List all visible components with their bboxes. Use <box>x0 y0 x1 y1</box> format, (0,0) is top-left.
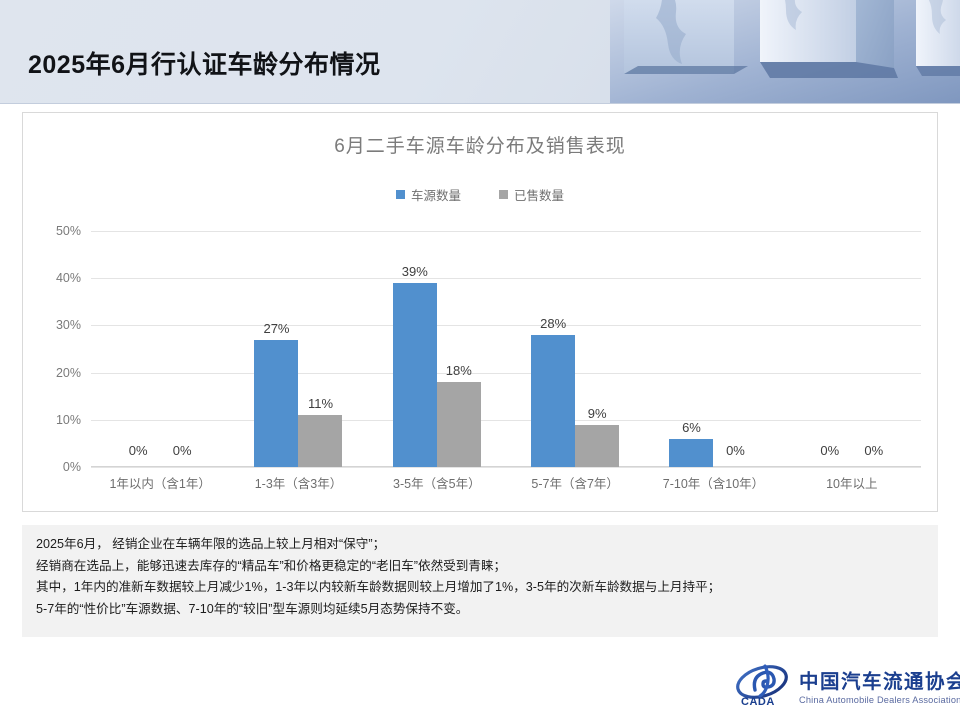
bar-value-label-1-1: 0% <box>129 443 148 458</box>
bar-value-label-4-2: 9% <box>588 406 607 421</box>
ytick-label-50: 50% <box>56 224 81 238</box>
xlabel-cat-5: 7-10年（含10年） <box>644 473 782 492</box>
chart-legend: 车源数量 已售数量 <box>23 185 937 204</box>
ytick-label-30: 30% <box>56 318 81 332</box>
logo-name-cn: 中国汽车流通协会 <box>799 665 960 694</box>
bar-series-2-cat-2[interactable]: 11% <box>298 415 342 467</box>
chart-title: 6月二手车源车龄分布及销售表现 <box>23 131 937 158</box>
note-line-3: 其中，1年内的准新车数据较上月减少1%，1-3年以内较新车龄数据则较上月增加了1… <box>36 577 924 599</box>
cada-logo: CADA 中国汽车流通协会 China Automobile Dealers A… <box>735 658 945 712</box>
xlabel-cat-2: 1-3年（含3年） <box>229 473 367 492</box>
ytick-label-40: 40% <box>56 271 81 285</box>
bar-slot-4-1[interactable]: 28% <box>531 231 575 467</box>
bar-value-label-5-1: 6% <box>682 420 701 435</box>
bar-group-3: 39% 18% <box>368 231 506 467</box>
ytick-label-0: 0% <box>63 460 81 474</box>
bar-group-5: 6% 0% <box>644 231 782 467</box>
bar-value-label-5-2: 0% <box>726 443 745 458</box>
bar-slot-2-1[interactable]: 27% <box>254 231 298 467</box>
logo-text-block: 中国汽车流通协会 China Automobile Dealers Associ… <box>799 665 960 705</box>
bar-group-6: 0% 0% <box>783 231 921 467</box>
decoration-svg <box>610 0 960 104</box>
xlabel-cat-6: 10年以上 <box>783 473 921 492</box>
bar-series-2-cat-3[interactable]: 18% <box>437 382 481 467</box>
legend-swatch-series-1 <box>396 190 405 199</box>
bar-value-label-3-2: 18% <box>446 363 472 378</box>
bar-series-1-cat-3[interactable]: 39% <box>393 283 437 467</box>
page-title: 2025年6月行认证车龄分布情况 <box>28 45 381 81</box>
bar-slot-1-2[interactable]: 0% <box>160 231 204 467</box>
bar-value-label-2-2: 11% <box>308 396 333 411</box>
slide-canvas: 2025年6月行认证车龄分布情况 6月二手车源车龄分布及销售表现 车源数量 已售… <box>0 0 960 720</box>
bar-slot-1-1[interactable]: 0% <box>116 231 160 467</box>
note-line-2: 经销商在选品上，能够迅速去库存的“精品车”和价格更稳定的“老旧车”依然受到青睐； <box>36 556 924 578</box>
ytick-label-10: 10% <box>56 413 81 427</box>
ytick-label-20: 20% <box>56 366 81 380</box>
bar-series-2-cat-4[interactable]: 9% <box>575 425 619 468</box>
bar-value-label-3-1: 39% <box>402 264 428 279</box>
slide-header: 2025年6月行认证车龄分布情况 <box>0 0 960 104</box>
bar-value-label-6-2: 0% <box>864 443 883 458</box>
bar-slot-5-2[interactable]: 0% <box>713 231 757 467</box>
plot-area: 50% 40% 30% 20% 10% 0% 0% <box>91 231 921 467</box>
bar-slot-3-2[interactable]: 18% <box>437 231 481 467</box>
bar-series-1-cat-2[interactable]: 27% <box>254 340 298 467</box>
world-map-cubes-decoration <box>610 0 960 104</box>
cada-swirl-svg: CADA <box>735 662 791 708</box>
bar-value-label-1-2: 0% <box>173 443 192 458</box>
bar-slot-6-2[interactable]: 0% <box>852 231 896 467</box>
notes-box: 2025年6月， 经销企业在车辆年限的选品上较上月相对“保守”； 经销商在选品上… <box>22 525 938 637</box>
chart-panel: 6月二手车源车龄分布及销售表现 车源数量 已售数量 50% 40% 30% <box>22 112 938 512</box>
bar-slot-5-1[interactable]: 6% <box>669 231 713 467</box>
legend-swatch-series-2 <box>499 190 508 199</box>
gridline-0: 0% <box>91 467 921 468</box>
bar-value-label-4-1: 28% <box>540 316 566 331</box>
svg-text:CADA: CADA <box>741 696 775 708</box>
bar-group-4: 28% 9% <box>506 231 644 467</box>
bar-group-2: 27% 11% <box>229 231 367 467</box>
xlabel-cat-4: 5-7年（含7年） <box>506 473 644 492</box>
bar-slot-4-2[interactable]: 9% <box>575 231 619 467</box>
legend-label-series-1: 车源数量 <box>411 185 461 204</box>
bar-slot-2-2[interactable]: 11% <box>298 231 342 467</box>
bar-value-label-6-1: 0% <box>820 443 839 458</box>
bar-groups: 0% 0% 27% 11% <box>91 231 921 467</box>
bar-series-1-cat-5[interactable]: 6% <box>669 439 713 467</box>
xlabel-cat-3: 3-5年（含5年） <box>368 473 506 492</box>
logo-name-en: China Automobile Dealers Association <box>799 695 960 705</box>
bar-slot-6-1[interactable]: 0% <box>808 231 852 467</box>
note-line-4: 5-7年的“性价比”车源数据、7-10年的“较旧”型车源则均延续5月态势保持不变… <box>36 599 924 621</box>
x-axis-labels: 1年以内（含1年） 1-3年（含3年） 3-5年（含5年） 5-7年（含7年） … <box>91 473 921 492</box>
legend-item-series-2[interactable]: 已售数量 <box>499 185 564 204</box>
bar-group-1: 0% 0% <box>91 231 229 467</box>
header-divider <box>0 103 960 104</box>
xlabel-cat-1: 1年以内（含1年） <box>91 473 229 492</box>
legend-item-series-1[interactable]: 车源数量 <box>396 185 461 204</box>
legend-label-series-2: 已售数量 <box>514 185 564 204</box>
bar-slot-3-1[interactable]: 39% <box>393 231 437 467</box>
cada-swirl-logo-icon: CADA <box>735 662 791 708</box>
bar-value-label-2-1: 27% <box>263 321 289 336</box>
bar-series-1-cat-4[interactable]: 28% <box>531 335 575 467</box>
note-line-1: 2025年6月， 经销企业在车辆年限的选品上较上月相对“保守”； <box>36 534 924 556</box>
